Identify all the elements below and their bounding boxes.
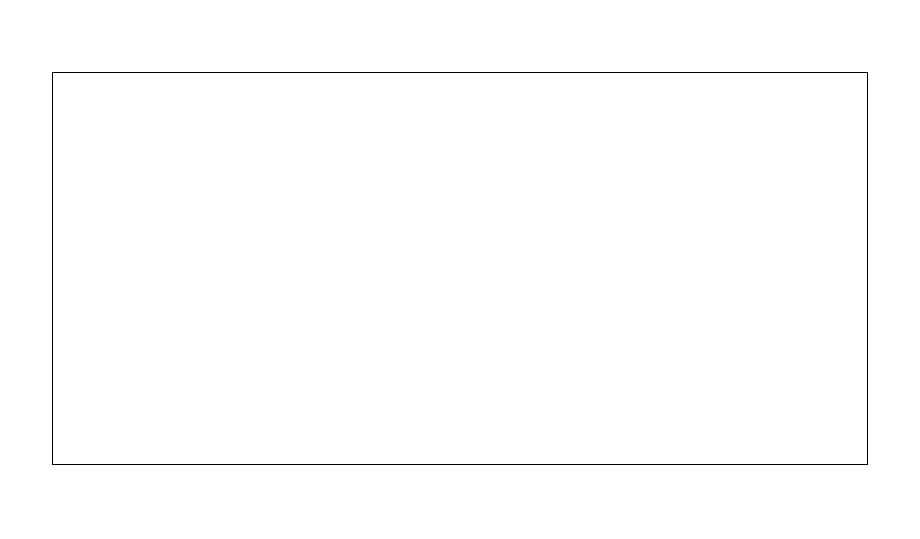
map-plot-area xyxy=(52,72,868,465)
legend xyxy=(52,483,868,523)
pet-world-map-figure xyxy=(0,0,920,539)
graticule-canvas xyxy=(53,73,869,466)
